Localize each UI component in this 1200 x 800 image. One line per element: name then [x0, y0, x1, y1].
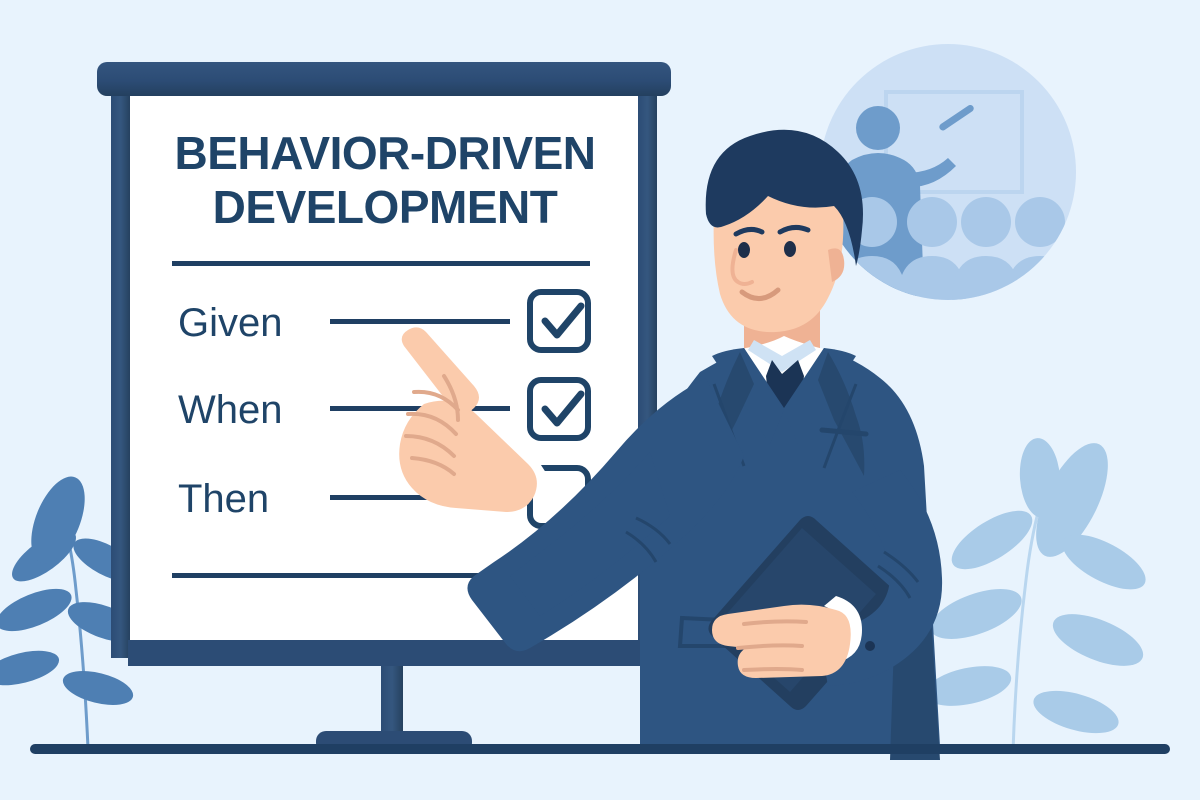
- floor-layer: [0, 0, 1200, 800]
- illustration-canvas: BEHAVIOR-DRIVEN DEVELOPMENT Given When T…: [0, 0, 1200, 800]
- floor-line: [30, 744, 1170, 754]
